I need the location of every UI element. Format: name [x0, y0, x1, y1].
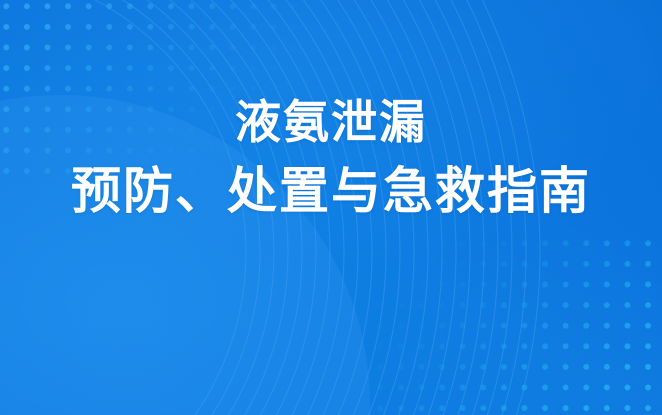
- concentric-arcs-decoration: [0, 0, 662, 415]
- title-line-2: 预防、处置与急救指南: [0, 158, 662, 224]
- soft-circle-bottom-left: [0, 95, 370, 415]
- dot-grid-bottom-right: [368, 231, 662, 415]
- title-block: 液氨泄漏 预防、处置与急救指南: [0, 92, 662, 224]
- banner-image: 液氨泄漏 预防、处置与急救指南: [0, 0, 662, 415]
- background-wash: [0, 0, 662, 415]
- title-line-1: 液氨泄漏: [0, 92, 662, 152]
- arc-ring-group: [0, 0, 540, 415]
- dot-grid-top-left: [0, 0, 294, 184]
